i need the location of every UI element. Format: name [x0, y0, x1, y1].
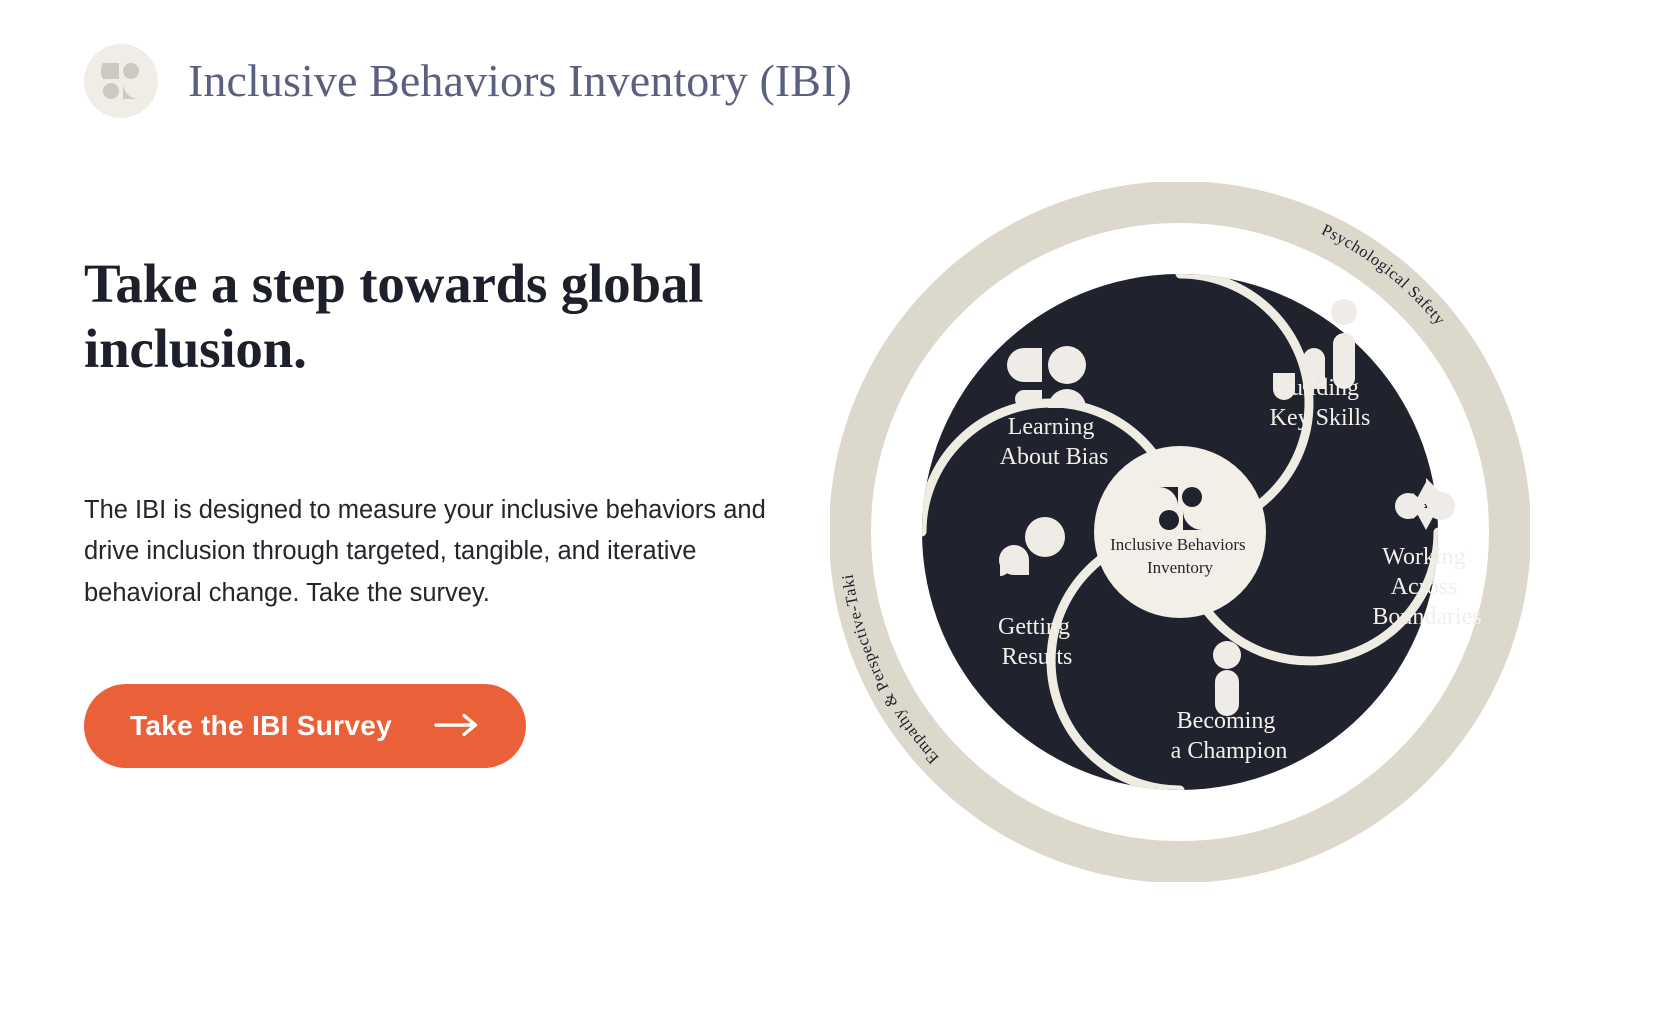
hero-content: Take a step towards global inclusion. Th… — [84, 252, 864, 382]
page-header: Inclusive Behaviors Inventory (IBI) — [84, 44, 852, 118]
page-title: Inclusive Behaviors Inventory (IBI) — [188, 57, 852, 105]
brand-logo-badge — [84, 44, 158, 118]
hero-headline-line-1: Take a step towards global — [84, 253, 703, 314]
hero-body-text: The IBI is designed to measure your incl… — [84, 490, 796, 614]
arrow-right-icon — [434, 712, 480, 741]
person-icon — [1213, 641, 1241, 716]
ibi-model-diagram: Empathy & Perspective-Taki Psychological… — [830, 182, 1530, 882]
diagram-center-hub: Inclusive Behaviors Inventory — [1094, 446, 1266, 618]
cta-button-label: Take the IBI Survey — [130, 710, 392, 742]
ibi-quatrefoil-logo-icon — [101, 61, 141, 101]
hero-headline: Take a step towards global inclusion. — [84, 252, 704, 382]
hero-headline-line-2: inclusion. — [84, 318, 307, 379]
take-the-ibi-survey-button[interactable]: Take the IBI Survey — [84, 684, 526, 768]
